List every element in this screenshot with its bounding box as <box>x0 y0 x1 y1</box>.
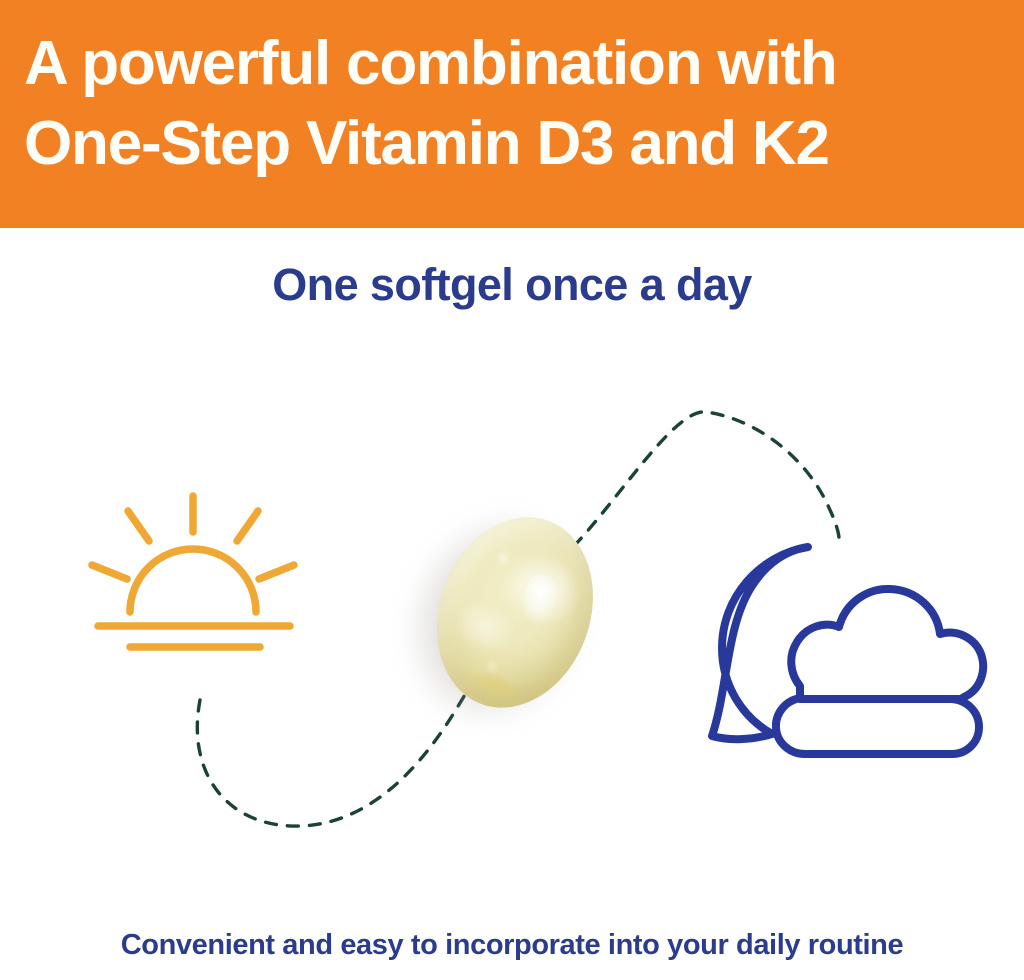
infographic-page: A powerful combination with One-Step Vit… <box>0 0 1024 980</box>
header-banner: A powerful combination with One-Step Vit… <box>0 0 1024 228</box>
illustration-stage <box>0 350 1024 890</box>
sunrise-icon <box>92 496 294 647</box>
subheading: One softgel once a day <box>0 256 1024 314</box>
page-title: A powerful combination with One-Step Vit… <box>24 24 1004 184</box>
moon-and-cloud-icon <box>712 547 983 754</box>
footer-note: Convenient and easy to incorporate into … <box>0 925 1024 965</box>
